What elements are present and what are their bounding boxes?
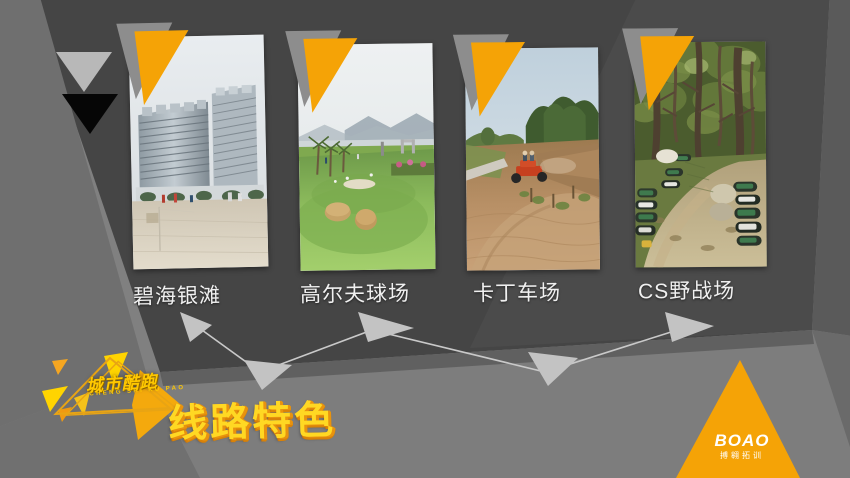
- corner-logo-name: BOAO: [694, 432, 790, 450]
- slide-canvas: 碧海银滩 高尔夫球场 卡丁车场 CS野战场 城市酷跑 CHENG: [0, 0, 850, 478]
- corner-logo-subtitle: 搏翱拓训: [694, 450, 790, 462]
- corner-logo[interactable]: BOAO 搏翱拓训: [694, 432, 790, 476]
- corner-accent-triangle: [0, 0, 850, 478]
